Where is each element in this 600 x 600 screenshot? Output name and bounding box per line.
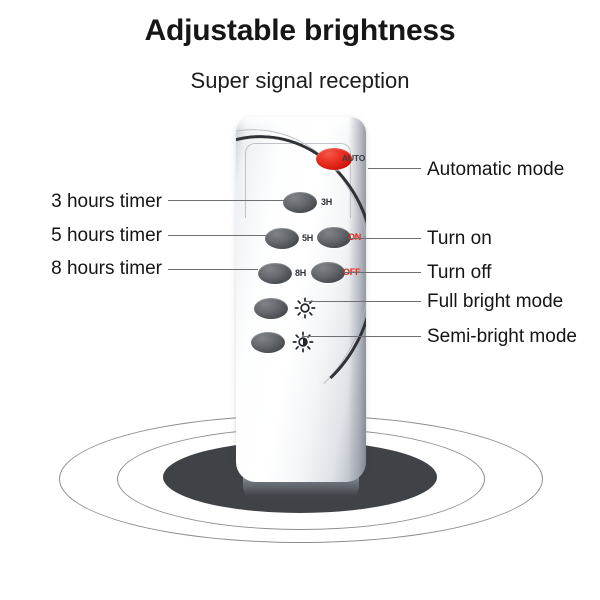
button-auto-label: AUTO [342, 154, 365, 163]
callout-label-5-hours-timer: 5 hours timer [12, 226, 162, 245]
button-timer-5h-label: 5H [302, 234, 313, 243]
leader-line-8-hours-timer [168, 269, 258, 270]
page-subtitle: Super signal reception [0, 68, 600, 94]
leader-line-full-bright-mode [305, 301, 421, 302]
button-timer-5h[interactable] [265, 228, 299, 249]
callout-label-turn-on: Turn on [427, 229, 492, 248]
callout-label-3-hours-timer: 3 hours timer [12, 192, 162, 211]
button-timer-8h-label: 8H [295, 269, 306, 278]
button-timer-3h[interactable] [283, 192, 317, 213]
callout-label-semi-bright-mode: Semi-bright mode [427, 327, 577, 346]
illustration-canvas: Adjustable brightness Super signal recep… [0, 0, 600, 600]
leader-line-turn-on [349, 238, 421, 239]
button-full-bright[interactable] [254, 298, 288, 319]
button-on[interactable] [317, 227, 351, 248]
button-timer-8h[interactable] [258, 263, 292, 284]
callout-label-full-bright-mode: Full bright mode [427, 292, 563, 311]
remote-control-body[interactable]: AUTO 3H 5H ON 8H OFF [236, 117, 366, 482]
leader-line-3-hours-timer [168, 200, 284, 201]
leader-line-automatic-mode [368, 168, 421, 169]
leader-line-5-hours-timer [168, 235, 266, 236]
button-timer-3h-label: 3H [321, 198, 332, 207]
leader-line-turn-off [344, 272, 421, 273]
button-off[interactable] [311, 262, 345, 283]
half-sun-icon [292, 331, 314, 353]
button-semi-bright[interactable] [251, 332, 285, 353]
page-title: Adjustable brightness [0, 14, 600, 48]
callout-label-8-hours-timer: 8 hours timer [12, 259, 162, 278]
callout-label-turn-off: Turn off [427, 263, 491, 282]
leader-line-semi-bright-mode [302, 336, 421, 337]
callout-label-automatic-mode: Automatic mode [427, 160, 564, 179]
